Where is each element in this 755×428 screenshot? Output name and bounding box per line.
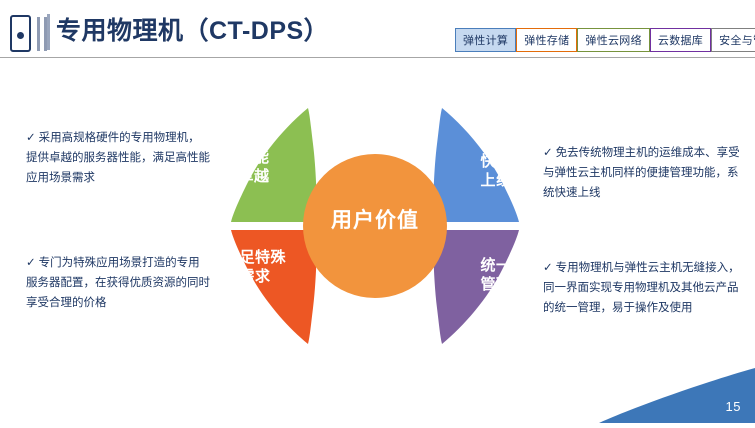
tab-elastic-storage[interactable]: 弹性存储 (516, 28, 577, 52)
note-performance-text: 采用高规格硬件的专用物理机，提供卓越的服务器性能，满足高性能应用场景需求 (26, 132, 210, 184)
footer-wedge: 15 (585, 368, 755, 423)
note-fast-launch-text: 免去传统物理主机的运维成本、享受与弹性云主机同样的便捷管理功能，系统快速上线 (543, 147, 740, 199)
petal-label-unified-mgmt: 统一管理 (466, 256, 526, 294)
tab-security-management[interactable]: 安全与管理 (711, 28, 755, 52)
check-icon: ✓ (26, 257, 36, 269)
value-diagram: 性能卓越 满足特殊需求 快速上线 统一管理 用户价值 (190, 100, 560, 350)
footer-wedge-shape (585, 368, 755, 423)
header-divider (0, 57, 755, 58)
note-unified-management: ✓专用物理机与弹性云主机无缝接入，同一界面实现专用物理机及其他云产品的统一管理，… (543, 258, 748, 318)
title-divider (47, 14, 50, 50)
petal-label-special-need: 满足特殊需求 (214, 248, 296, 286)
page-header: 专用物理机（CT-DPS） 弹性计算 弹性存储 弹性云网络 云数据库 安全与管理 (0, 0, 755, 59)
tab-cloud-database[interactable]: 云数据库 (650, 28, 711, 52)
petal-label-fast-launch: 快速上线 (466, 152, 526, 190)
note-special-need-text: 专门为特殊应用场景打造的专用服务器配置，在获得优质资源的同时享受合理的价格 (26, 257, 210, 309)
note-unified-management-text: 专用物理机与弹性云主机无缝接入，同一界面实现专用物理机及其他云产品的统一管理，易… (543, 262, 740, 314)
logo-bar-1 (37, 17, 40, 51)
check-icon: ✓ (26, 132, 36, 144)
nav-tabs: 弹性计算 弹性存储 弹性云网络 云数据库 安全与管理 (455, 28, 755, 52)
logo-dot (17, 32, 24, 39)
page-number: 15 (726, 399, 741, 414)
tab-elastic-cloud-network[interactable]: 弹性云网络 (577, 28, 650, 52)
note-special-need: ✓专门为特殊应用场景打造的专用服务器配置，在获得优质资源的同时享受合理的价格 (26, 253, 211, 313)
note-performance: ✓采用高规格硬件的专用物理机，提供卓越的服务器性能，满足高性能应用场景需求 (26, 128, 211, 188)
page-title: 专用物理机（CT-DPS） (56, 13, 329, 49)
server-rack-icon (10, 15, 60, 53)
tab-elastic-compute[interactable]: 弹性计算 (455, 28, 516, 52)
petal-label-performance: 性能卓越 (224, 148, 284, 186)
center-label: 用户价值 (297, 204, 453, 234)
note-fast-launch: ✓免去传统物理主机的运维成本、享受与弹性云主机同样的便捷管理功能，系统快速上线 (543, 143, 748, 203)
